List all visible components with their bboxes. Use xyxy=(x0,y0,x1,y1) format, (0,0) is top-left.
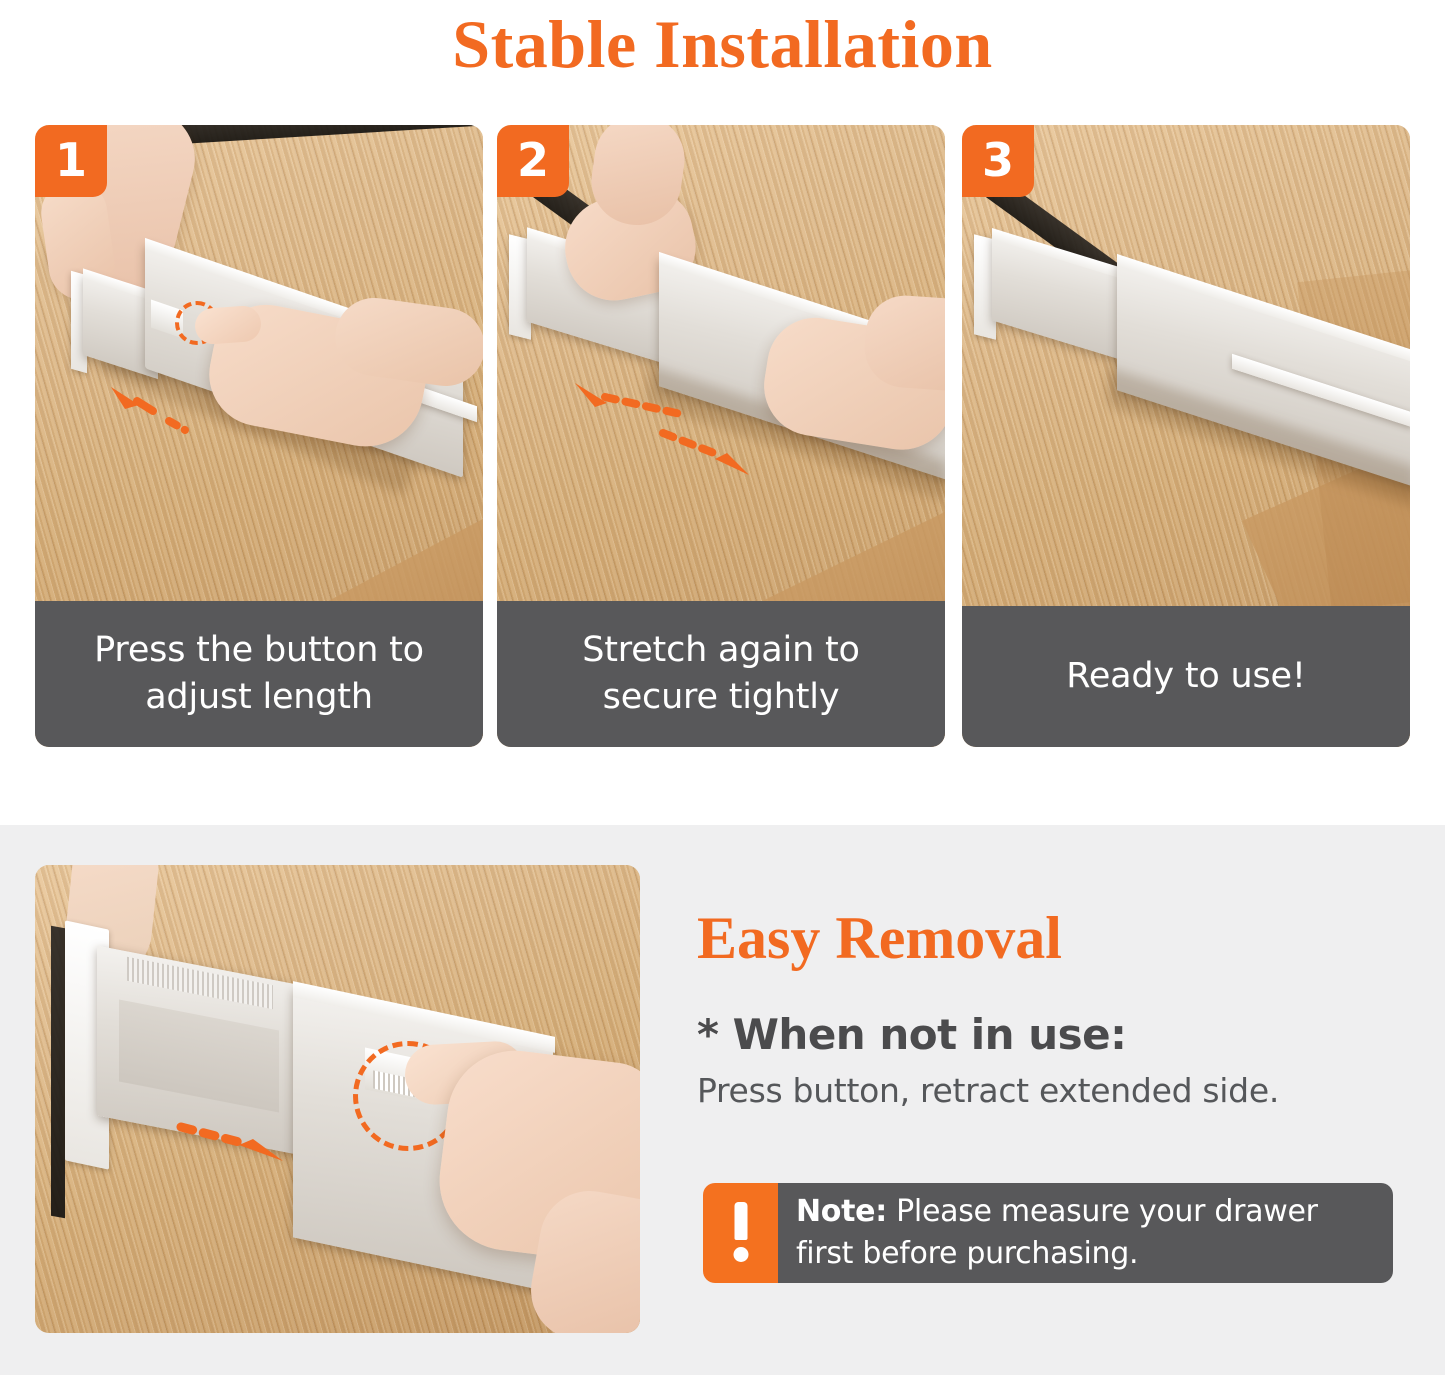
note-text: Note: Please measure your drawer first b… xyxy=(778,1183,1393,1283)
easy-removal-title: Easy Removal xyxy=(697,903,1407,973)
page-title: Stable Installation xyxy=(0,2,1445,86)
drawer-front-edge xyxy=(51,926,65,1218)
easy-removal-text-block: Easy Removal * When not in use: Press bu… xyxy=(697,903,1407,1113)
step-caption-3: Ready to use! xyxy=(962,606,1410,747)
arrow-down-right-icon xyxy=(657,425,767,485)
arrow-right-icon xyxy=(175,1113,305,1173)
when-not-in-use-subtitle: * When not in use: xyxy=(697,1009,1407,1061)
easy-removal-photo xyxy=(35,865,640,1333)
right-index-finger xyxy=(194,305,262,346)
arrow-left-icon xyxy=(95,375,205,435)
stable-installation-section: Stable Installation xyxy=(0,0,1445,825)
step-caption-1: Press the button to adjust length xyxy=(35,601,483,747)
step-caption-2-line-2: secure tightly xyxy=(511,674,931,721)
step-panel-1: 1 Press the button to adjust length xyxy=(35,125,483,747)
removal-instruction-text: Press button, retract extended side. xyxy=(697,1069,1407,1113)
step-caption-2: Stretch again to secure tightly xyxy=(497,601,945,747)
step-caption-1-line-1: Press the button to xyxy=(49,627,469,674)
step-badge-2: 2 xyxy=(497,125,569,197)
step-panel-2: 2 Stretch again to secure tightly xyxy=(497,125,945,747)
exclamation-dot xyxy=(733,1247,748,1262)
step-caption-2-line-1: Stretch again to xyxy=(511,627,931,674)
note-label: Note: xyxy=(796,1194,887,1229)
step-badge-3: 3 xyxy=(962,125,1034,197)
arrow-up-left-icon xyxy=(565,373,695,423)
step-badge-1: 1 xyxy=(35,125,107,197)
note-box: Note: Please measure your drawer first b… xyxy=(703,1183,1393,1283)
step-caption-3-line-1: Ready to use! xyxy=(976,653,1396,700)
step-caption-1-line-2: adjust length xyxy=(49,674,469,721)
step-panel-3: 3 Ready to use! xyxy=(962,125,1410,747)
exclamation-icon xyxy=(703,1183,778,1283)
exclamation-stem xyxy=(734,1202,747,1240)
easy-removal-photo-panel xyxy=(35,865,640,1333)
easy-removal-section: Easy Removal * When not in use: Press bu… xyxy=(0,825,1445,1375)
